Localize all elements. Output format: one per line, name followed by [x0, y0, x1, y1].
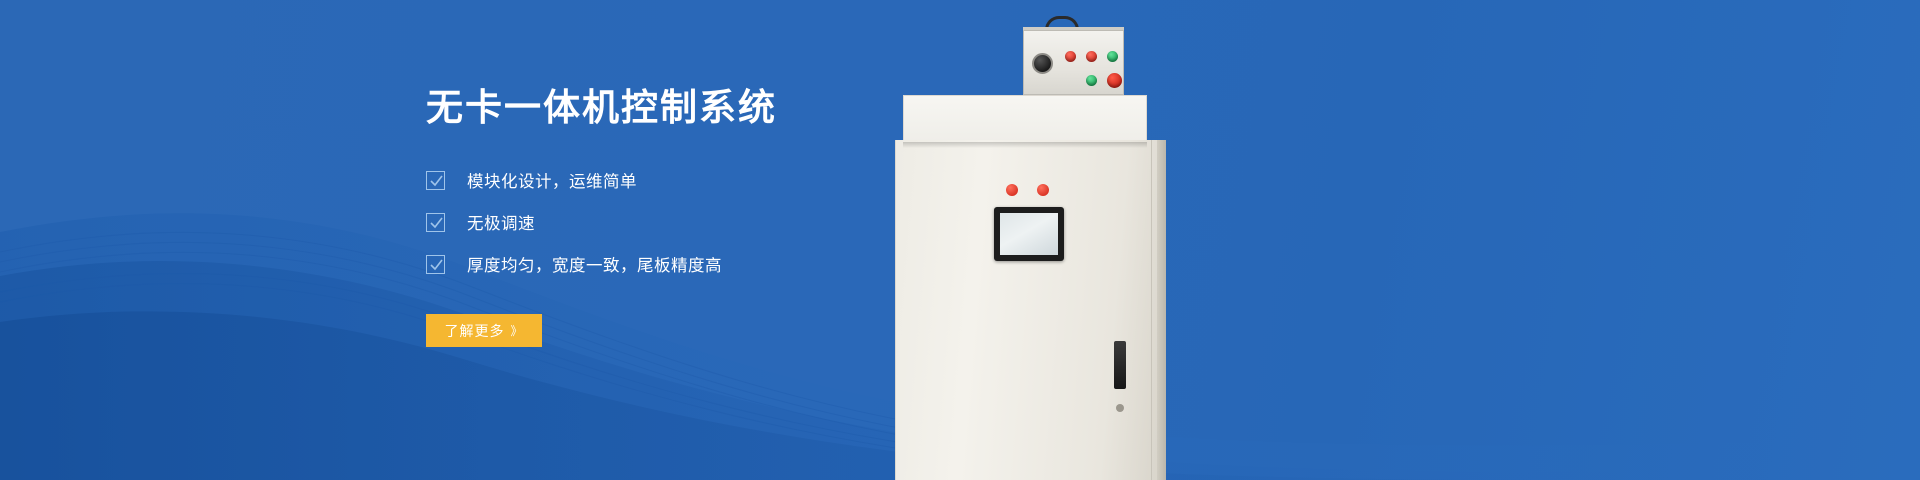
page-title: 无卡一体机控制系统	[426, 86, 986, 130]
emergency-stop-button	[1107, 73, 1122, 88]
list-item: 模块化设计，运维简单	[426, 168, 986, 192]
green-button-1	[1107, 51, 1118, 62]
green-button-2	[1086, 75, 1097, 86]
feature-label: 无极调速	[467, 210, 535, 234]
list-item: 厚度均匀，宽度一致，尾板精度高	[426, 252, 986, 276]
door-handle	[1114, 341, 1126, 389]
control-panel	[1023, 30, 1124, 95]
list-item: 无极调速	[426, 210, 986, 234]
hero-banner: 无卡一体机控制系统 模块化设计，运维简单 无极调速 厚度均匀，宽度一致，尾板精度…	[0, 0, 1920, 480]
learn-more-label: 了解更多	[444, 321, 504, 341]
screen-glass	[1000, 213, 1058, 255]
cabinet-side-panel	[1157, 140, 1166, 480]
learn-more-button[interactable]: 了解更多 》	[426, 314, 542, 347]
door-lock	[1116, 404, 1124, 412]
hmi-touch-screen	[994, 207, 1064, 261]
feature-label: 厚度均匀，宽度一致，尾板精度高	[467, 252, 722, 276]
red-button-1	[1065, 51, 1076, 62]
selector-knob	[1032, 53, 1053, 74]
hero-content: 无卡一体机控制系统 模块化设计，运维简单 无极调速 厚度均匀，宽度一致，尾板精度…	[426, 86, 986, 347]
indicator-light-2	[1037, 184, 1049, 196]
check-square-icon	[426, 255, 445, 274]
check-square-icon	[426, 171, 445, 190]
red-button-2	[1086, 51, 1097, 62]
chevron-right-icon: 》	[510, 322, 523, 339]
feature-list: 模块化设计，运维简单 无极调速 厚度均匀，宽度一致，尾板精度高	[426, 168, 986, 276]
check-square-icon	[426, 213, 445, 232]
indicator-light-1	[1006, 184, 1018, 196]
cabinet-door-seam	[1151, 140, 1152, 480]
feature-label: 模块化设计，运维简单	[467, 168, 637, 192]
